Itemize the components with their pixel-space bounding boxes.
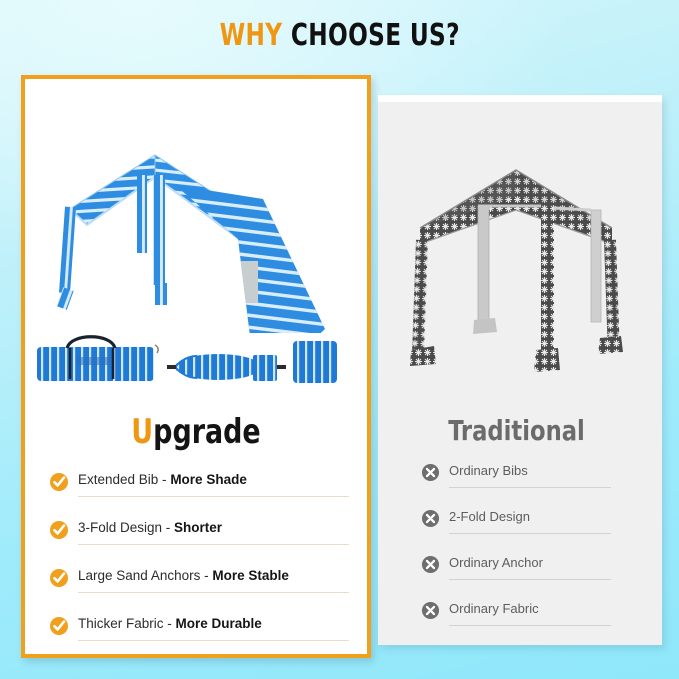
x-circle-icon xyxy=(421,601,440,620)
upgrade-heading-initial: U xyxy=(131,412,153,452)
upgrade-product-image xyxy=(25,93,367,333)
feature-benefit: More Shade xyxy=(170,472,247,487)
upgrade-feature-list: Extended Bib - More Shade 3-Fold Design … xyxy=(49,471,349,663)
check-circle-icon xyxy=(49,568,69,588)
page-title: WHY CHOOSE US? xyxy=(219,21,459,51)
row-divider xyxy=(78,544,349,545)
page-title-accent: WHY xyxy=(219,18,282,53)
check-circle-icon xyxy=(49,472,69,492)
row-divider xyxy=(78,640,349,641)
traditional-feature-list: Ordinary Bibs 2-Fold Design Ordinary Anc… xyxy=(421,462,636,646)
feature-text: Large Sand Anchors - xyxy=(78,568,212,583)
row-divider xyxy=(449,487,611,488)
list-item: Ordinary Anchor xyxy=(421,554,636,600)
row-divider xyxy=(449,579,611,580)
list-item: Thicker Fabric - More Durable xyxy=(49,615,349,663)
traditional-heading: Traditional xyxy=(392,417,641,445)
feature-benefit: Shorter xyxy=(174,520,222,535)
page-header: WHY CHOOSE US? xyxy=(0,0,679,72)
upgrade-heading-rest: pgrade xyxy=(153,412,261,452)
feature-text: Ordinary Bibs xyxy=(449,462,528,479)
feature-text: 2-Fold Design xyxy=(449,508,530,525)
traditional-product-image xyxy=(378,132,655,397)
upgrade-heading: Upgrade xyxy=(46,415,347,449)
feature-benefit: More Durable xyxy=(176,616,262,631)
row-divider xyxy=(78,592,349,593)
feature-text: Ordinary Fabric xyxy=(449,600,539,617)
upgrade-panel: Upgrade Extended Bib - More Shade 3-Fold… xyxy=(21,75,371,658)
bag-folded-tall xyxy=(293,341,337,383)
bag-handles xyxy=(67,337,115,348)
list-item: 3-Fold Design - Shorter xyxy=(49,519,349,567)
list-item: Ordinary Bibs xyxy=(421,462,636,508)
feature-text: 3-Fold Design - xyxy=(78,520,174,535)
feature-text: Thicker Fabric - xyxy=(78,616,176,631)
page-title-main: CHOOSE US? xyxy=(291,18,460,53)
row-divider xyxy=(449,625,611,626)
list-item: Extended Bib - More Shade xyxy=(49,471,349,519)
list-item: Large Sand Anchors - More Stable xyxy=(49,567,349,615)
check-circle-icon xyxy=(49,616,69,636)
traditional-panel: Traditional Ordinary Bibs 2-Fold Design xyxy=(378,95,662,645)
upgrade-bags-image xyxy=(25,327,367,397)
bag-folded-small xyxy=(253,355,277,381)
x-circle-icon xyxy=(421,555,440,574)
feature-benefit: More Stable xyxy=(212,568,289,583)
x-circle-icon xyxy=(421,509,440,528)
feature-text: Ordinary Anchor xyxy=(449,554,543,571)
feature-text: Extended Bib - xyxy=(78,472,170,487)
list-item: Ordinary Fabric xyxy=(421,600,636,646)
x-circle-icon xyxy=(421,463,440,482)
row-divider xyxy=(78,496,349,497)
check-circle-icon xyxy=(49,520,69,540)
row-divider xyxy=(449,533,611,534)
list-item: 2-Fold Design xyxy=(421,508,636,554)
